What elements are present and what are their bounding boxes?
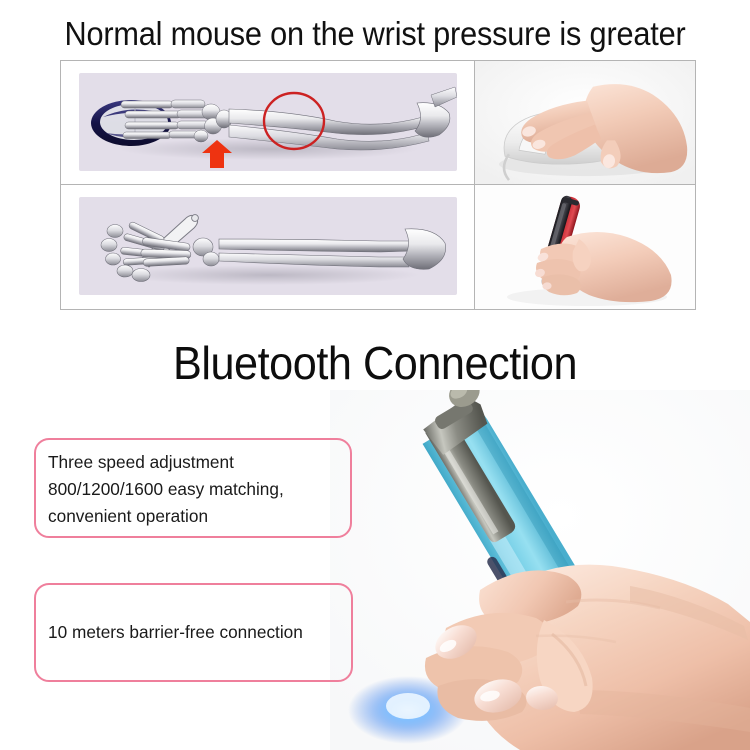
xray-forearm-holding-pen-icon xyxy=(79,197,457,295)
photo-hand-resting-on-corded-mouse xyxy=(475,61,695,184)
product-hero-photo xyxy=(330,390,750,750)
callout-speed-adjustment: Three speed adjustment 800/1200/1600 eas… xyxy=(34,438,352,538)
xray-plate-mouse xyxy=(79,73,457,171)
photo-hand-holding-red-pen-mouse xyxy=(475,185,695,309)
xray-forearm-holding-mouse-icon xyxy=(79,73,457,171)
callout-line: convenient operation xyxy=(48,503,345,530)
grid-cell-photo-hand-on-mouse xyxy=(475,61,695,185)
hand-on-mouse-icon xyxy=(475,61,695,184)
hand-holding-blue-pen-mouse-icon xyxy=(330,390,750,750)
comparison-grid xyxy=(60,60,696,310)
xray-plate-pen xyxy=(79,197,457,295)
hand-holding-red-pen-mouse-icon xyxy=(475,185,695,309)
callout-line: Three speed adjustment xyxy=(48,449,345,476)
grid-cell-xray-mouse-grip xyxy=(61,61,475,185)
section-heading-bluetooth: Bluetooth Connection xyxy=(23,334,728,392)
grid-cell-photo-hand-holding-pen-mouse xyxy=(475,185,695,309)
callout-line: 10 meters barrier-free connection xyxy=(48,619,303,646)
callout-range: 10 meters barrier-free connection xyxy=(34,583,353,682)
callout-line: 800/1200/1600 easy matching, xyxy=(48,476,345,503)
page-title: Normal mouse on the wrist pressure is gr… xyxy=(26,14,724,54)
grid-cell-xray-pen-grip xyxy=(61,185,475,309)
